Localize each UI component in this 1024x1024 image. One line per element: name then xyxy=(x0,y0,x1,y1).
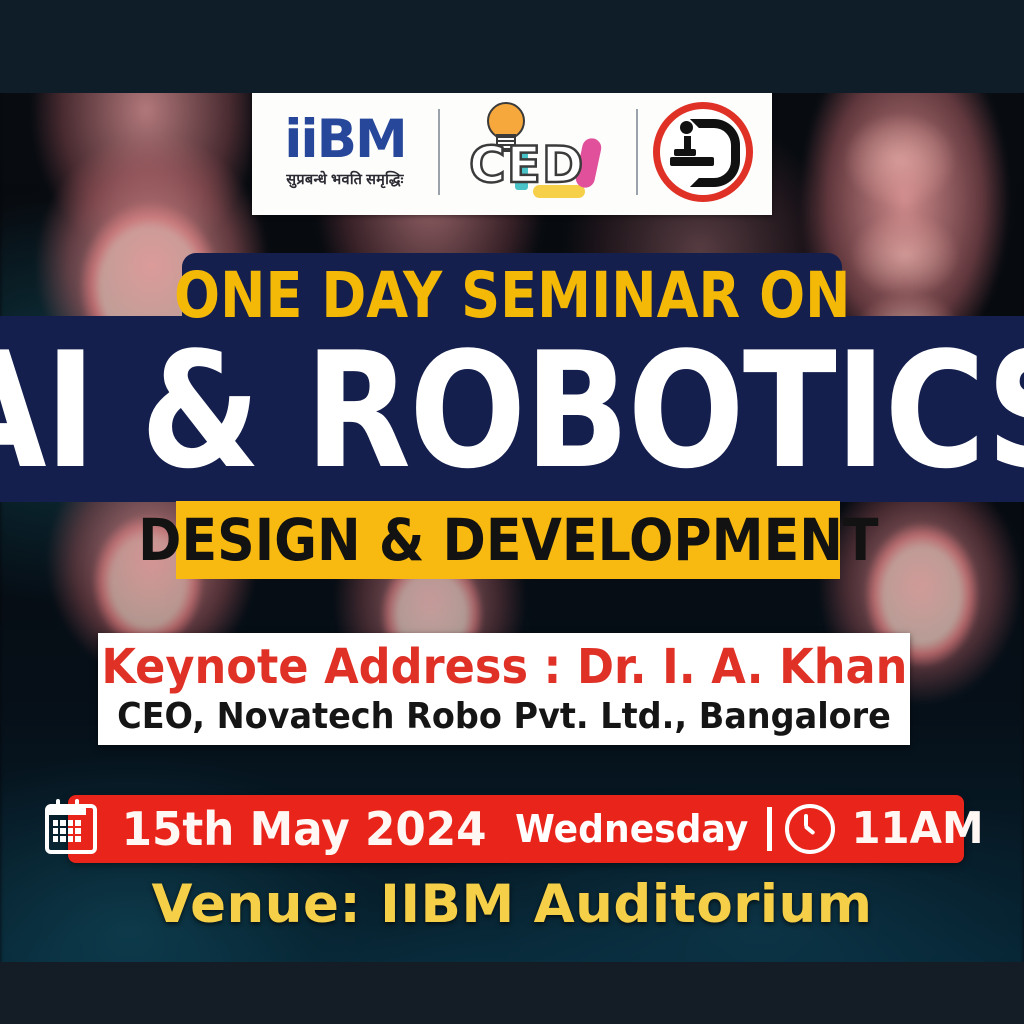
letterbox-top-bar xyxy=(0,0,1024,93)
venue-text: Venue: IIBM Auditorium xyxy=(151,874,872,935)
event-poster: iiBM सुप्रबन्धे भवति समृद्धिः CED xyxy=(0,0,1024,1024)
poster-subtitle: DESIGN & DEVELOPMENT xyxy=(138,511,878,569)
ced-wordmark: CED xyxy=(469,140,584,190)
seminar-kicker-text: ONE DAY SEMINAR ON xyxy=(174,264,850,327)
clock-icon xyxy=(785,804,835,854)
schedule-bar: 15th May 2024 Wednesday 11AM xyxy=(68,795,964,863)
iibm-tagline: सुप्रबन्धे भवति समृद्धिः xyxy=(286,169,403,189)
title-band: AI & ROBOTICS xyxy=(0,316,1024,502)
venue-row: Venue: IIBM Auditorium xyxy=(0,878,1024,931)
iibm-wordmark: iiBM xyxy=(284,115,405,165)
keynote-speaker: Keynote Address : Dr. I. A. Khan xyxy=(101,643,907,691)
schedule-separator xyxy=(767,807,772,851)
calendar-icon xyxy=(45,804,97,854)
letterbox-bottom-bar xyxy=(0,962,1024,1024)
event-time: 11AM xyxy=(852,807,984,851)
keynote-designation: CEO, Novatech Robo Pvt. Ltd., Bangalore xyxy=(117,699,891,735)
ced-logo: CED xyxy=(440,100,636,204)
logo-strip: iiBM सुप्रबन्धे भवति समृद्धिः CED xyxy=(252,89,772,215)
poster-title: AI & ROBOTICS xyxy=(0,331,1024,491)
keynote-card: Keynote Address : Dr. I. A. Khan CEO, No… xyxy=(98,633,910,745)
subtitle-band: DESIGN & DEVELOPMENT xyxy=(176,501,840,579)
event-date: 15th May 2024 xyxy=(121,806,486,852)
microscope-person-seal-icon xyxy=(653,102,753,202)
seminar-kicker-box: ONE DAY SEMINAR ON xyxy=(182,253,842,338)
iibm-logo: iiBM सुप्रबन्धे भवति समृद्धिः xyxy=(252,115,438,188)
institution-seal-logo xyxy=(638,102,768,202)
event-weekday: Wednesday xyxy=(515,810,748,848)
